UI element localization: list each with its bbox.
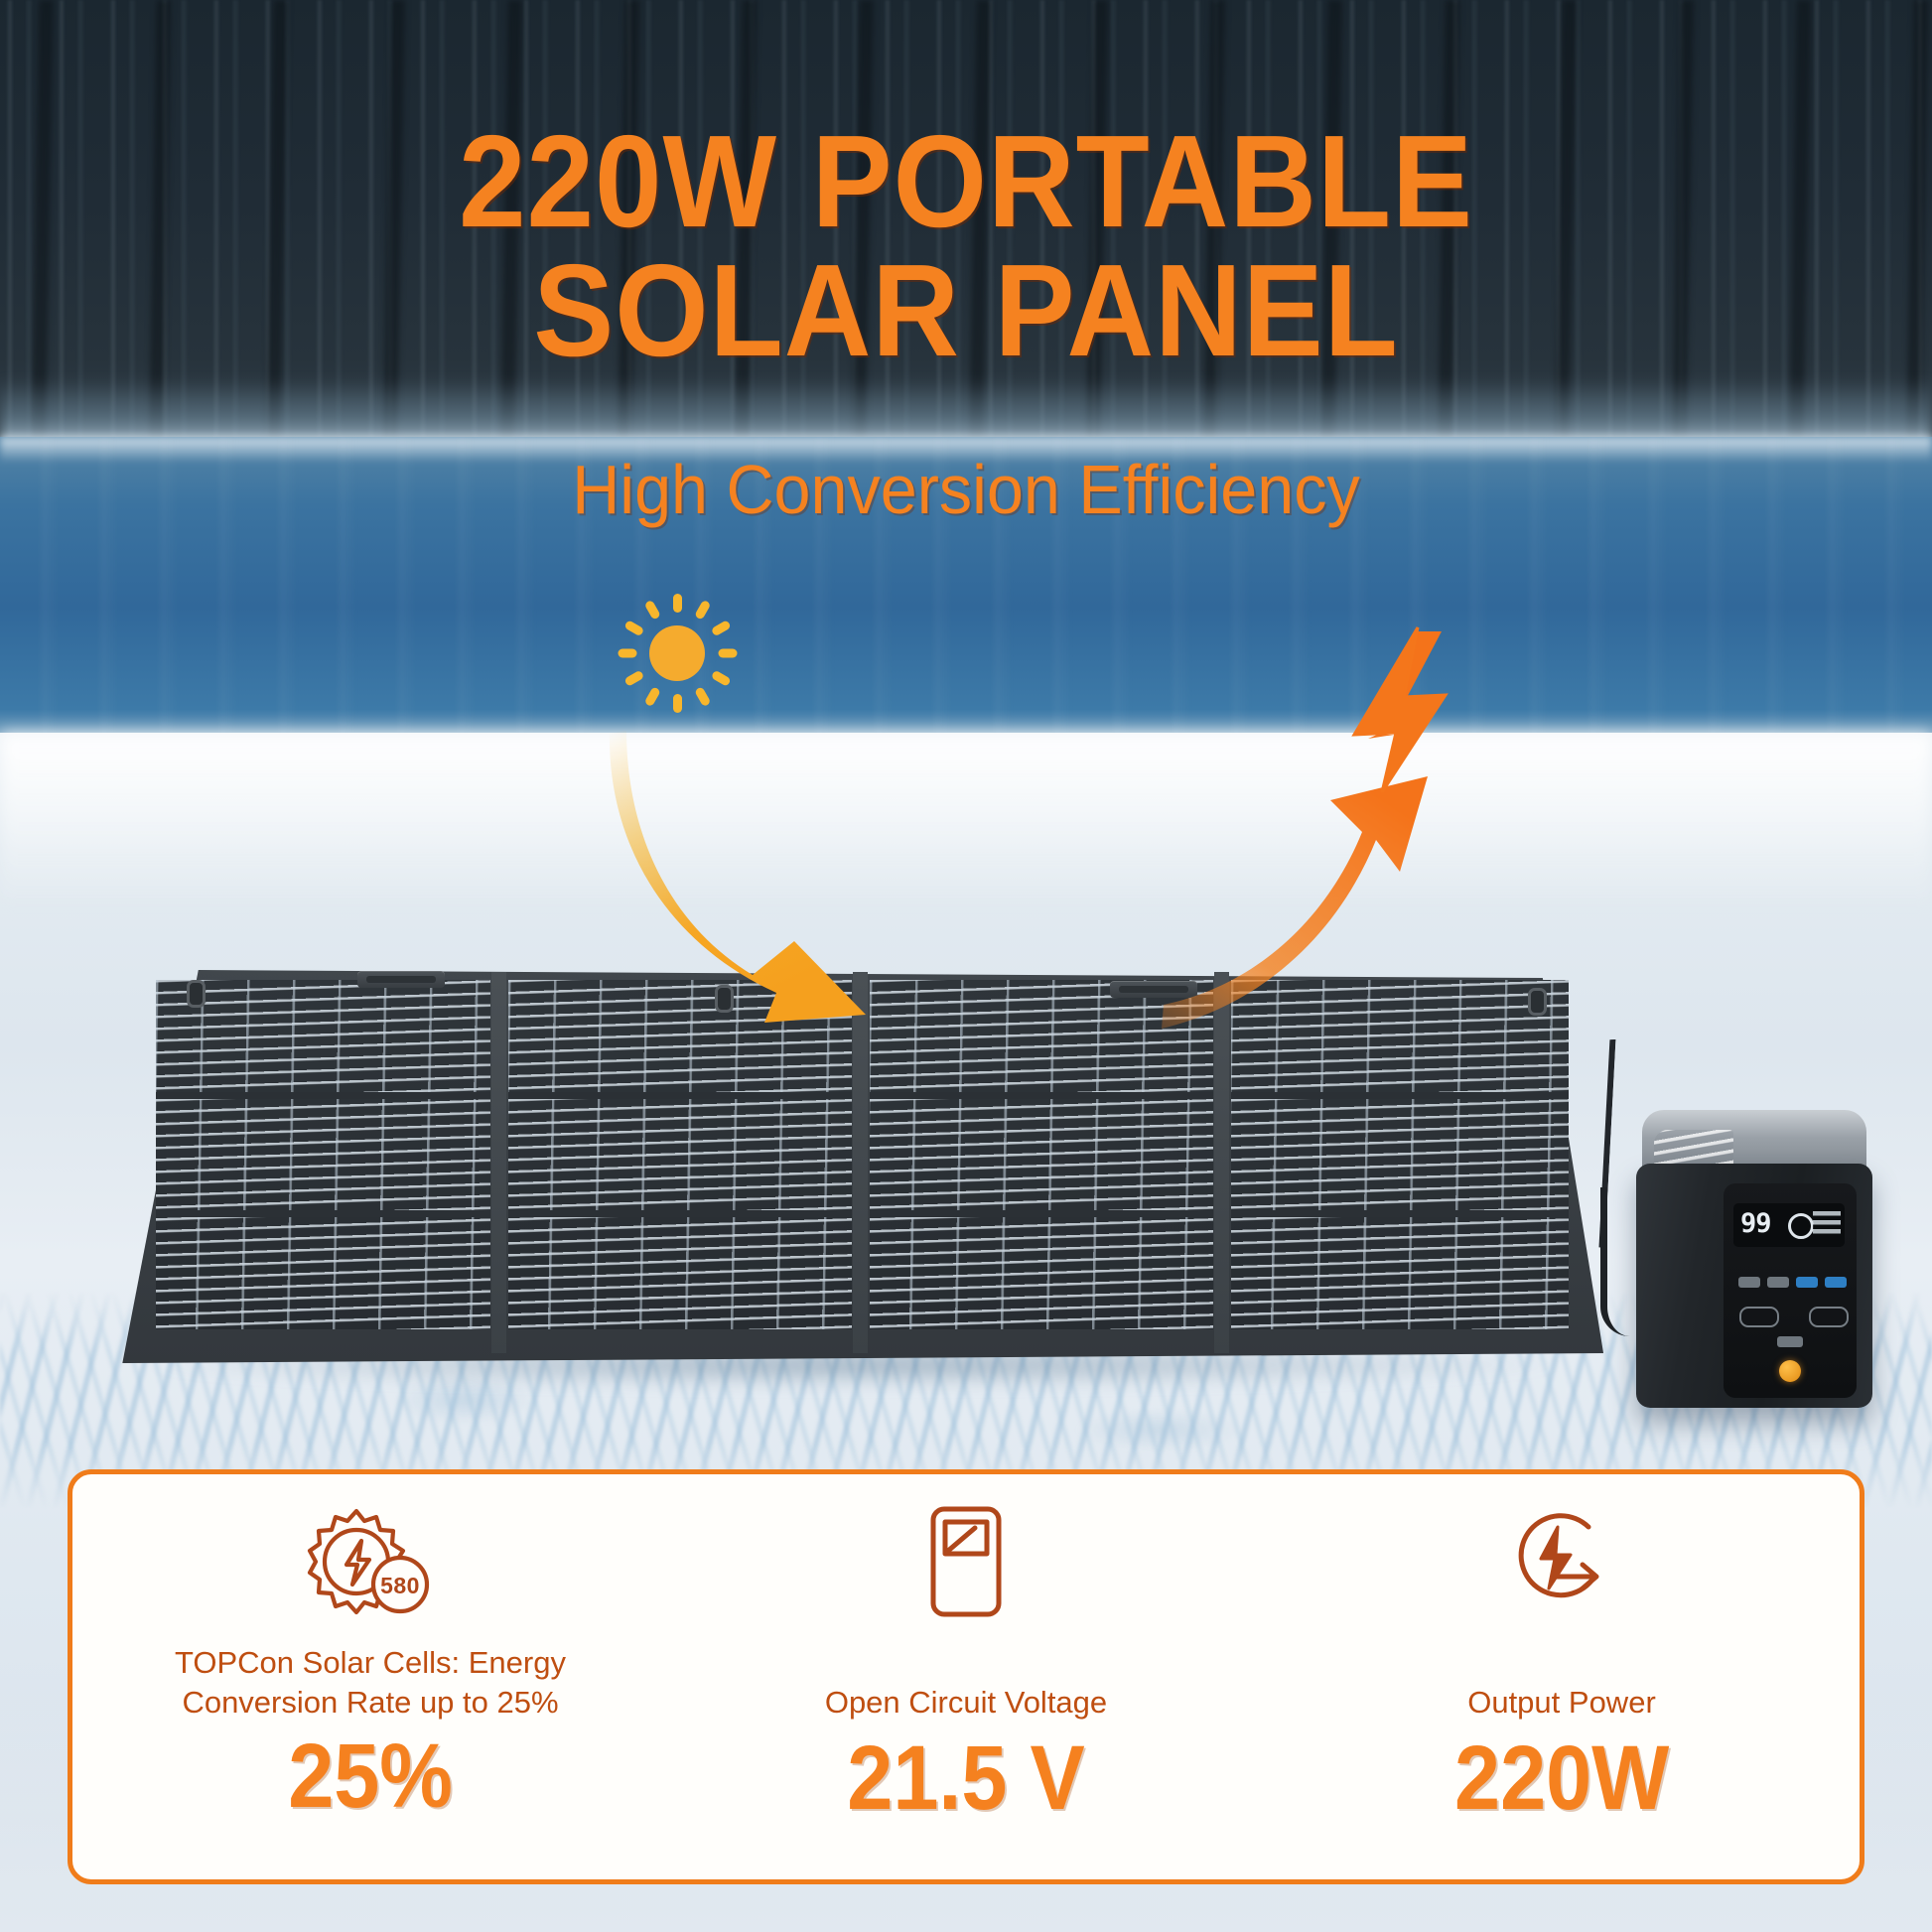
station-usb-port	[1738, 1277, 1760, 1288]
station-power-button[interactable]	[1779, 1360, 1801, 1382]
panel-segment-2	[508, 980, 852, 1329]
cell-row-gap	[508, 1092, 852, 1099]
cell-busbars	[870, 980, 1213, 1329]
sun-ray	[694, 600, 711, 621]
station-ac-outlet	[1809, 1307, 1849, 1327]
headline-line-2: SOLAR PANEL	[77, 246, 1855, 375]
panel-segment-1	[156, 980, 490, 1329]
sun-ray	[673, 694, 682, 713]
panel-carry-handle	[1110, 981, 1197, 998]
cell-busbars	[156, 980, 490, 1329]
sun-core	[649, 625, 705, 681]
product-hero-image: 99	[0, 0, 1932, 1932]
station-usb-port-blue	[1825, 1277, 1847, 1288]
spec-column-voltage: Open Circuit Voltage 21.5 V	[668, 1474, 1264, 1879]
spec-label: Output Power	[1467, 1683, 1656, 1723]
sun-ray	[623, 670, 644, 687]
cell-row-gap	[870, 1210, 1213, 1217]
sun-ray	[643, 600, 660, 621]
sun-icon	[618, 594, 737, 713]
solar-cell-badge-icon: 580	[307, 1502, 434, 1629]
cell-busbars	[508, 980, 852, 1329]
icon-badge-text: 580	[380, 1573, 420, 1598]
sun-ray	[673, 594, 682, 613]
sun-ray	[718, 649, 737, 658]
panel-grommet	[715, 985, 734, 1013]
cell-row-gap	[156, 1210, 490, 1217]
spec-column-conversion: 580 TOPCon Solar Cells: Energy Conversio…	[72, 1474, 668, 1879]
panel-segment-4	[1231, 980, 1569, 1329]
station-display-value: 99	[1740, 1209, 1771, 1239]
spec-label: TOPCon Solar Cells: Energy Conversion Ra…	[132, 1643, 609, 1723]
snow-haze	[0, 733, 1932, 911]
spec-label: Open Circuit Voltage	[825, 1683, 1107, 1723]
cell-busbars	[1231, 980, 1569, 1329]
subtitle: High Conversion Efficiency	[49, 452, 1884, 527]
panel-fold-seam	[853, 972, 868, 1353]
panel-fold-seam	[1214, 972, 1229, 1353]
sun-ray	[710, 670, 731, 687]
cell-row-gap	[508, 1210, 852, 1217]
station-dc-port	[1777, 1336, 1803, 1347]
cell-row-gap	[1231, 1092, 1569, 1099]
station-display-dial	[1788, 1213, 1814, 1239]
spec-value: 25%	[288, 1728, 453, 1824]
panel-segment-3	[870, 980, 1213, 1329]
station-display-bars	[1813, 1211, 1841, 1237]
folding-solar-panel	[107, 968, 1626, 1365]
panel-grommet	[1528, 988, 1547, 1016]
page-title: 220W PORTABLE SOLAR PANEL	[77, 117, 1855, 375]
headline-line-1: 220W PORTABLE	[459, 108, 1473, 254]
panel-fold-seam	[491, 972, 506, 1353]
voltmeter-icon	[914, 1502, 1018, 1629]
sun-ray	[710, 620, 731, 636]
portable-power-station: 99	[1636, 1110, 1872, 1408]
station-display: 99	[1733, 1203, 1845, 1247]
power-output-icon	[1503, 1502, 1620, 1629]
station-usb-port-blue	[1796, 1277, 1818, 1288]
spec-value: 220W	[1454, 1730, 1669, 1826]
sun-ray	[623, 620, 644, 636]
cell-row-gap	[870, 1092, 1213, 1099]
sun-ray	[643, 686, 660, 707]
cell-row-gap	[1231, 1210, 1569, 1217]
spec-column-output: Output Power 220W	[1264, 1474, 1860, 1879]
spec-card: 580 TOPCon Solar Cells: Energy Conversio…	[68, 1469, 1864, 1884]
sun-ray	[694, 686, 711, 707]
spec-value: 21.5 V	[847, 1730, 1084, 1826]
station-ac-outlet	[1739, 1307, 1779, 1327]
station-usb-port	[1767, 1277, 1789, 1288]
panel-grommet	[187, 980, 206, 1008]
panel-carry-handle	[357, 971, 445, 988]
sun-ray	[618, 649, 636, 658]
cell-row-gap	[156, 1092, 490, 1099]
